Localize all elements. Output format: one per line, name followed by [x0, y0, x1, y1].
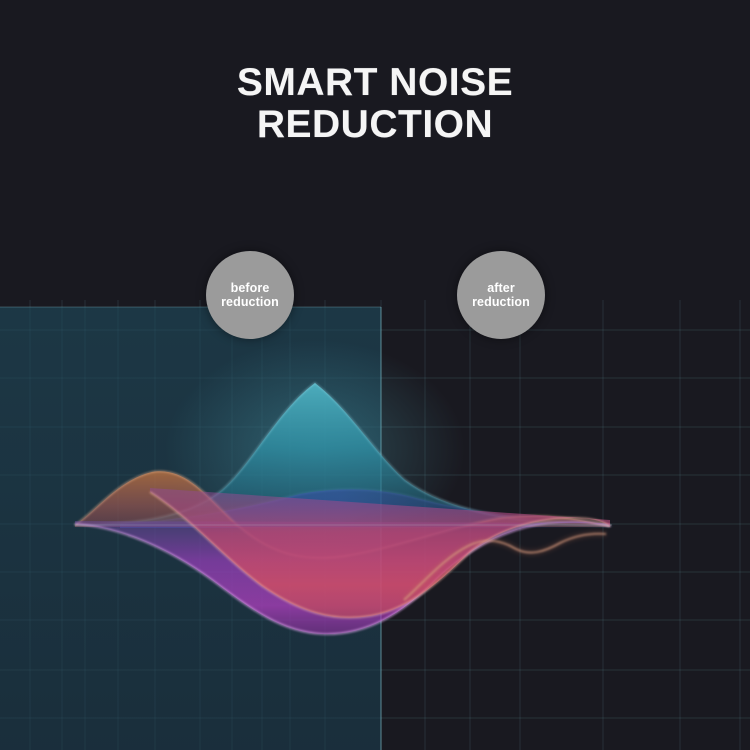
- poster-canvas: SMART NOISE REDUCTION before reduction a…: [0, 0, 750, 750]
- marker-before-reduction[interactable]: before reduction: [206, 251, 294, 339]
- marker-before-label-line1: before: [231, 281, 270, 295]
- marker-after-label-line1: after: [487, 281, 515, 295]
- marker-after-label-line2: reduction: [472, 295, 530, 309]
- marker-before-label-line2: reduction: [221, 295, 279, 309]
- waveform-chart: [0, 0, 750, 750]
- marker-after-reduction[interactable]: after reduction: [457, 251, 545, 339]
